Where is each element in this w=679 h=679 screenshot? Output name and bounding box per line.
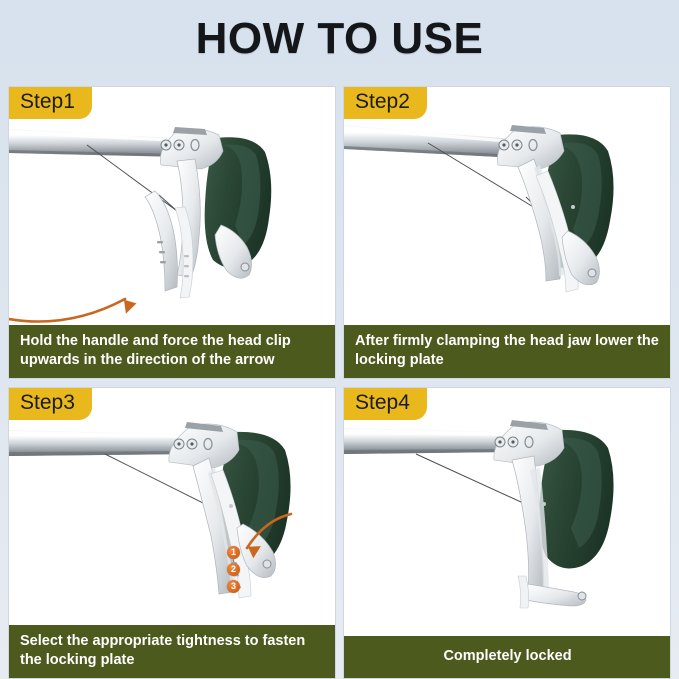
tightness-marker-2: 2 [227,563,240,576]
tightness-marker-3: 3 [227,580,240,593]
page-title: HOW TO USE [0,17,679,61]
step-panel-3: Step3 [8,387,336,679]
step-badge-2: Step2 [344,87,427,119]
step-badge-3: Step3 [9,388,92,420]
step-panel-1: Step1 [8,86,336,379]
step-panel-2: Step2 [343,86,671,379]
direction-arrow-icon [205,504,325,564]
step-badge-1: Step1 [9,87,92,119]
step-caption-3: Select the appropriate tightness to fast… [9,625,335,678]
tool-illustration-step4 [344,388,670,678]
step-caption-1: Hold the handle and force the head clip … [9,325,335,378]
step-caption-2: After firmly clamping the head jaw lower… [344,325,670,378]
tightness-marker-1: 1 [227,546,240,559]
step-caption-4: Completely locked [344,636,670,678]
step-panel-4: Step4 [343,387,671,679]
steps-grid: Step1 [8,86,671,679]
step-badge-4: Step4 [344,388,427,420]
tightness-markers: 1 2 3 [227,546,240,597]
